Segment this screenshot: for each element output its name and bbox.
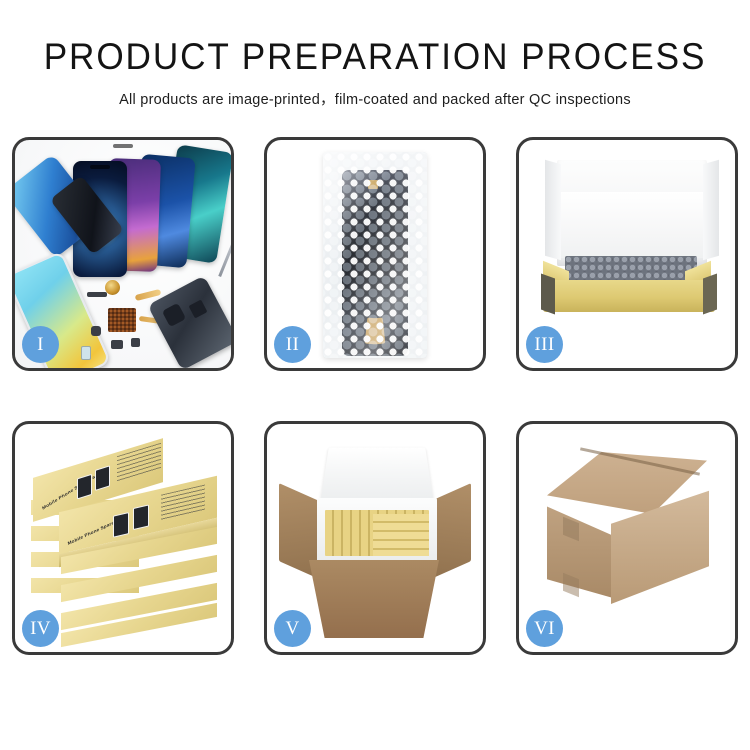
step-panel-6: VI xyxy=(516,421,738,655)
kraft-box-front xyxy=(543,280,715,312)
step-numeral: V xyxy=(285,618,299,640)
protector-notch-icon xyxy=(113,144,133,148)
step-badge-5: V xyxy=(274,610,311,647)
step-panel-2: II xyxy=(264,137,486,371)
plastic-gloss xyxy=(323,152,427,358)
small-part-icon xyxy=(87,292,107,297)
product-preparation-infographic: PRODUCT PREPARATION PROCESS All products… xyxy=(0,0,750,750)
step-badge-4: IV xyxy=(22,610,59,647)
page-title: PRODUCT PREPARATION PROCESS xyxy=(19,38,732,77)
small-part-icon xyxy=(91,326,101,336)
process-step-grid: I II xyxy=(12,137,738,655)
small-part-icon xyxy=(81,346,91,360)
step-panel-3: III xyxy=(516,137,738,371)
step-panel-1: I xyxy=(12,137,234,371)
step-numeral: IV xyxy=(30,618,51,640)
packed-retail-boxes xyxy=(373,514,429,556)
step-numeral: II xyxy=(286,334,299,356)
copper-coil-icon xyxy=(105,280,120,295)
step-badge-6: VI xyxy=(526,610,563,647)
step-numeral: VI xyxy=(534,618,555,640)
foam-box-lid xyxy=(321,447,434,500)
bubble-wrap-bag xyxy=(323,152,427,358)
phone-thumbnail-icon xyxy=(133,504,149,530)
carton-left-face xyxy=(547,494,613,598)
step-panel-5: V xyxy=(264,421,486,655)
foam-sheet xyxy=(561,192,703,258)
chip-grid-icon xyxy=(108,308,136,332)
phone-notch-icon xyxy=(90,165,110,169)
step-numeral: I xyxy=(37,334,44,356)
page-subtitle: All products are image-printed，film-coat… xyxy=(0,88,750,109)
box-stack: Mobile Phone Spare Parts Mobile Phone Sp… xyxy=(31,446,221,636)
carton-body xyxy=(309,560,439,638)
step-numeral: III xyxy=(534,334,554,356)
step-badge-3: III xyxy=(526,326,563,363)
small-part-icon xyxy=(131,338,140,347)
small-part-icon xyxy=(111,340,123,349)
step-badge-2: II xyxy=(274,326,311,363)
header: PRODUCT PREPARATION PROCESS All products… xyxy=(0,0,750,109)
step-panel-4: Mobile Phone Spare Parts Mobile Phone Sp… xyxy=(12,421,234,655)
phone-thumbnail-icon xyxy=(113,512,129,538)
step-badge-1: I xyxy=(22,326,59,363)
